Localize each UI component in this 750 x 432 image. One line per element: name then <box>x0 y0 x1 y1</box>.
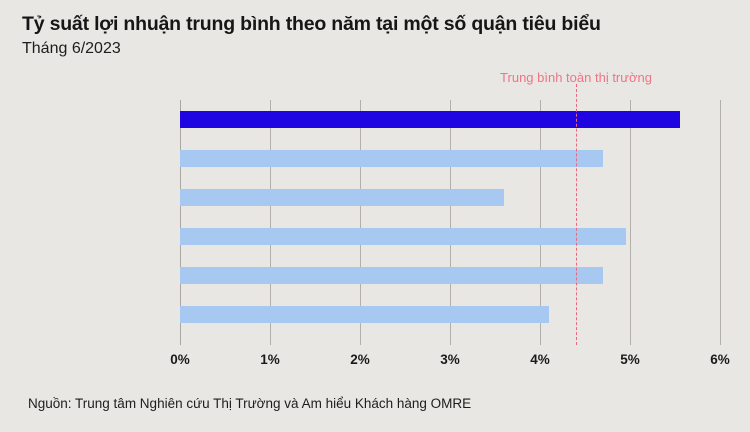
bar[interactable] <box>180 306 549 323</box>
x-tick-label: 6% <box>710 352 730 367</box>
x-tick-label: 5% <box>620 352 640 367</box>
chart-plot: Vinhomes Smart CityQuận Thanh XuânQuận C… <box>0 0 750 432</box>
bar-row[interactable]: Quận Cầu Giấy <box>180 178 720 217</box>
x-tick-label: 0% <box>170 352 190 367</box>
bar[interactable] <box>180 111 680 128</box>
bar-row[interactable]: Quận Bắc Từ Liêm <box>180 256 720 295</box>
bar-row[interactable]: Quận Ba Đình <box>180 217 720 256</box>
market-average-label: Trung bình toàn thị trường <box>500 70 652 85</box>
plot-area: Vinhomes Smart CityQuận Thanh XuânQuận C… <box>180 100 720 345</box>
bar-row[interactable]: Quận Nam Từ Liêm <box>180 295 720 334</box>
gridline-6% <box>720 100 721 345</box>
bar-row[interactable]: Vinhomes Smart City <box>180 100 720 139</box>
market-average-line <box>576 84 577 345</box>
bar-row[interactable]: Quận Thanh Xuân <box>180 139 720 178</box>
x-tick-label: 3% <box>440 352 460 367</box>
x-tick-label: 2% <box>350 352 370 367</box>
source-note: Nguồn: Trung tâm Nghiên cứu Thị Trường v… <box>28 396 471 411</box>
bar[interactable] <box>180 228 626 245</box>
bar[interactable] <box>180 150 603 167</box>
bar[interactable] <box>180 267 603 284</box>
bar[interactable] <box>180 189 504 206</box>
x-tick-label: 1% <box>260 352 280 367</box>
x-tick-label: 4% <box>530 352 550 367</box>
x-axis: 0%1%2%3%4%5%6% <box>180 352 720 372</box>
